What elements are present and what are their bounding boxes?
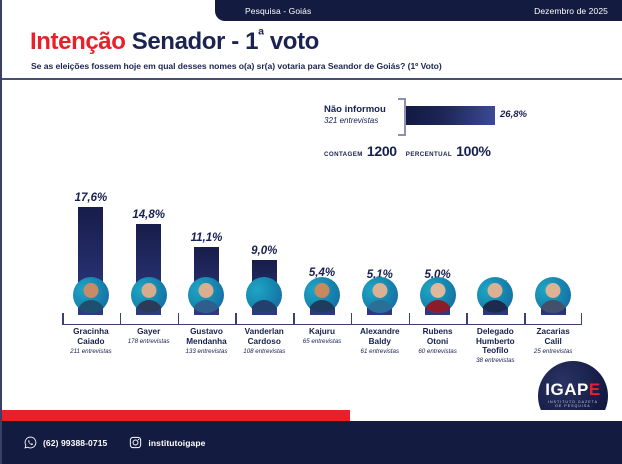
nao-informou-block: Não informou 321 entrevistas 26,8% CONTA… <box>2 95 622 165</box>
red-accent-bar <box>2 410 350 421</box>
axis-tick <box>235 313 293 325</box>
bar-column: 9,0% <box>235 170 293 315</box>
title-highlight: Intenção <box>30 28 125 55</box>
top-header-bar: Pesquisa - Goiás Dezembro de 2025 <box>215 0 622 21</box>
candidate-label: GustavoMendanha133 entrevistas <box>178 327 236 364</box>
axis-end-tick <box>581 313 583 324</box>
candidate-name: Alexandre <box>352 327 408 337</box>
candidate-label: RubensOtoni60 entrevistas <box>409 327 467 364</box>
nao-informou-label-group: Não informou 321 entrevistas <box>324 104 386 125</box>
page-subtitle: Se as eleições fossem hoje em qual desse… <box>31 61 442 71</box>
candidate-name-line2: Cardoso <box>236 337 292 347</box>
candidate-interview-count: 65 entrevistas <box>294 338 350 345</box>
logo-wordmark: IGAPE <box>545 381 600 398</box>
candidate-label: AlexandreBaldy61 entrevistas <box>351 327 409 364</box>
candidate-name: Gayer <box>121 327 177 337</box>
candidate-photo <box>246 277 282 313</box>
survey-date: Dezembro de 2025 <box>534 6 608 16</box>
axis-tick <box>466 313 524 325</box>
nao-informou-name: Não informou <box>324 104 386 115</box>
candidate-label: DelegadoHumberto Teofilo38 entrevistas <box>466 327 524 364</box>
candidate-name: Zacarias <box>525 327 581 337</box>
axis-tick <box>524 313 582 325</box>
logo-tagline-2: DE PESQUISA <box>555 404 590 408</box>
bar-column: 5,1% <box>351 170 409 315</box>
candidate-name: Kajuru <box>294 327 350 337</box>
candidate-interview-count: 61 entrevistas <box>352 348 408 355</box>
footer-bar: (62) 99388-0715 institutoigape <box>2 421 622 464</box>
candidate-label: VanderlanCardoso108 entrevistas <box>235 327 293 364</box>
category-labels: GracinhaCaiado211 entrevistasGayer178 en… <box>62 327 582 364</box>
bar-value-label: 14,8% <box>132 209 165 221</box>
logo-text: IGAP <box>545 380 589 399</box>
candidate-name-line2: Mendanha <box>179 337 235 347</box>
candidate-photo <box>420 277 456 313</box>
poll-infographic: Pesquisa - Goiás Dezembro de 2025 Intenç… <box>0 0 622 464</box>
candidate-name-line2: Calil <box>525 337 581 347</box>
axis-tick <box>409 313 467 325</box>
axis-tick <box>178 313 236 325</box>
contagem-value: 1200 <box>367 143 397 159</box>
candidate-name-line2: Caiado <box>63 337 119 347</box>
bar-column: 17,6% <box>62 170 120 315</box>
title-tail: voto <box>264 28 319 55</box>
instagram-icon <box>129 436 142 449</box>
candidate-interview-count: 211 entrevistas <box>63 348 119 355</box>
candidate-photo <box>535 277 571 313</box>
candidate-name-line2: Baldy <box>352 337 408 347</box>
candidate-interview-count: 133 entrevistas <box>179 348 235 355</box>
phone-number: (62) 99388-0715 <box>43 438 107 448</box>
whatsapp-icon <box>24 436 37 449</box>
candidate-interview-count: 60 entrevistas <box>410 348 466 355</box>
header-divider <box>2 78 622 80</box>
chart-axis <box>62 313 582 325</box>
axis-tick <box>62 313 120 325</box>
bar-column: 3,2% <box>466 170 524 315</box>
bar-column: 5,0% <box>409 170 467 315</box>
axis-tick <box>120 313 178 325</box>
nao-informou-bar <box>406 106 495 125</box>
bar-series: 17,6%14,8%11,1%9,0%5,4%5,1%5,0%3,2%2,1% <box>62 170 582 315</box>
candidate-photo <box>73 277 109 313</box>
candidate-label: ZacariasCalil25 entrevistas <box>524 327 582 364</box>
candidate-name-line2: Otoni <box>410 337 466 347</box>
bar-chart: 17,6%14,8%11,1%9,0%5,4%5,1%5,0%3,2%2,1% … <box>2 170 622 370</box>
candidate-label: GracinhaCaiado211 entrevistas <box>62 327 120 364</box>
bar-column: 14,8% <box>120 170 178 315</box>
page-title: Intenção Senador - 1ª voto <box>30 28 319 56</box>
white-accent-bar <box>350 410 622 421</box>
bar-value-label: 17,6% <box>75 192 108 204</box>
candidate-name: Gracinha <box>63 327 119 337</box>
candidate-label: Gayer178 entrevistas <box>120 327 178 364</box>
candidate-interview-count: 38 entrevistas <box>467 357 523 364</box>
bar-column: 2,1% <box>524 170 582 315</box>
bracket-decoration <box>398 98 406 136</box>
axis-tick <box>293 313 351 325</box>
candidate-name-line2: Humberto Teofilo <box>467 337 523 356</box>
bar-value-label: 9,0% <box>251 245 277 257</box>
title-rest: Senador - 1 <box>125 28 258 55</box>
axis-tick <box>351 313 409 325</box>
candidate-interview-count: 108 entrevistas <box>236 348 292 355</box>
logo-accent-letter: E <box>589 380 601 399</box>
candidate-interview-count: 25 entrevistas <box>525 348 581 355</box>
candidate-name: Gustavo <box>179 327 235 337</box>
percentual-value: 100% <box>456 143 491 159</box>
candidate-name: Delegado <box>467 327 523 337</box>
survey-label: Pesquisa - Goiás <box>245 6 311 16</box>
instagram-contact[interactable]: institutoigape <box>129 436 205 449</box>
candidate-photo <box>362 277 398 313</box>
bar-column: 5,4% <box>293 170 351 315</box>
instagram-handle: institutoigape <box>148 438 205 448</box>
nao-informou-count: 321 entrevistas <box>324 116 386 125</box>
candidate-photo <box>477 277 513 313</box>
title-block: Intenção Senador - 1ª voto Se as eleiçõe… <box>2 21 622 79</box>
candidate-name: Vanderlan <box>236 327 292 337</box>
candidate-photo <box>131 277 167 313</box>
bar-value-label: 11,1% <box>191 232 223 244</box>
candidate-interview-count: 178 entrevistas <box>121 338 177 345</box>
whatsapp-contact[interactable]: (62) 99388-0715 <box>24 436 107 449</box>
summary-stats: CONTAGEM 1200 PERCENTUAL 100% <box>324 143 500 159</box>
candidate-label: Kajuru65 entrevistas <box>293 327 351 364</box>
candidate-photo <box>304 277 340 313</box>
contagem-label: CONTAGEM <box>324 151 363 158</box>
candidate-photo <box>188 277 224 313</box>
candidate-name: Rubens <box>410 327 466 337</box>
nao-informou-percent: 26,8% <box>500 109 527 120</box>
bar-column: 11,1% <box>178 170 236 315</box>
percentual-label: PERCENTUAL <box>406 151 452 158</box>
